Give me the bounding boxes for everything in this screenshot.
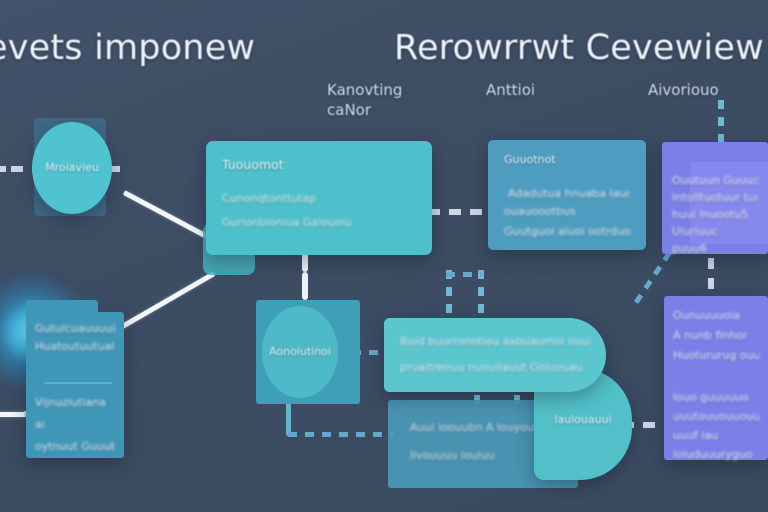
connector-bottom-center-prong-left	[446, 270, 452, 320]
center-circle-node[interactable]: Aonoiutinoi	[262, 306, 338, 398]
top-right-purple-card-line-2: Intolltuotuur tuuwui	[672, 189, 758, 206]
top-right-blue-card-line-3: ouauoootbus	[504, 202, 630, 222]
page-title-right: Rerowrrwt Cevewiew	[394, 28, 764, 68]
bottom-center-upper-card-line-1: Buid buurronotiou aabuaumoi ouuiaou	[400, 332, 590, 352]
bottom-left-card-notch	[26, 300, 98, 314]
connector-center-node-down-dash	[288, 432, 394, 437]
top-right-purple-card[interactable]: Ouutuun Guuudy Intolltuotuur tuuwui huui…	[662, 142, 768, 254]
connector-bottom-center-prong-right	[478, 270, 484, 320]
top-center-card-line-2: Cunonqtonttutap	[222, 189, 416, 209]
diagram-canvas: Mroiavieu Tuouomot Cunonqtonttutap Gurio…	[0, 0, 768, 512]
bottom-left-card-bottom-line-3: oytnuut Guuubtui	[35, 436, 115, 458]
column-header-2: Anttioi	[486, 80, 535, 100]
top-right-purple-card-line-5: puuu6	[672, 240, 758, 257]
top-center-card-line-3: Gurionbioniua Galouoiu	[222, 213, 416, 233]
bottom-right-purple-card-line-6: uuuf iau	[673, 426, 759, 445]
column-header-1: Kanovting caNor	[327, 80, 402, 120]
bottom-right-purple-card-line-7: loiuduuuryguo	[673, 445, 759, 464]
top-center-card[interactable]: Tuouomot Cunonqtonttutap Gurionbioniua G…	[206, 141, 432, 255]
bottom-right-purple-card-line-3: Huotururug ouuovoion	[673, 346, 759, 366]
column-header-3: Aivoriouo	[648, 80, 719, 100]
top-right-blue-card-line-1: Guuotnot	[504, 150, 630, 170]
bottom-left-card[interactable]: Gutuicuauuuui Huatoutuutual Vijnuziutian…	[26, 312, 124, 458]
bottom-left-card-divider	[44, 382, 112, 384]
connector-center-node-up-pipe	[302, 272, 308, 300]
top-right-blue-card-line-4: Guutguoi aiuoi ootrduoi	[504, 222, 630, 242]
bottom-left-card-bottom-line-2: ai	[35, 414, 115, 436]
bottom-right-purple-card[interactable]: Ounuuuuoia A nunb finhor Huotururug ouuo…	[664, 296, 768, 460]
bottom-right-node-label: laulouauui	[540, 410, 626, 430]
bottom-right-purple-card-line-4: Iouo guuuuuo	[673, 388, 759, 407]
top-center-card-line-1: Tuouomot	[222, 155, 416, 175]
connector-center-node-down-pipe	[286, 400, 291, 436]
top-right-purple-card-line-4: Uiuriuuc	[672, 223, 758, 240]
left-circle-node[interactable]: Mroiavieu	[32, 122, 112, 214]
top-right-blue-card-line-2: Adadutua hnuaba lauouot t	[508, 184, 630, 204]
bottom-left-card-top-line-1: Gutuicuauuuui	[35, 320, 115, 338]
connector-far-left-stub	[0, 166, 8, 172]
bottom-left-card-bottom-line-1: Vijnuziutiana	[35, 392, 115, 414]
connector-bottom-center-bridge	[446, 272, 482, 277]
top-right-purple-card-line-1: Ouutuun Guuudy	[672, 172, 758, 189]
page-title-left: evets imponew	[0, 28, 255, 68]
column-header-2-line-1: Anttioi	[486, 80, 535, 100]
column-header-3-line-1: Aivoriouo	[648, 80, 719, 100]
top-right-blue-card[interactable]: Guuotnot Adadutua hnuaba lauouot t ouauo…	[488, 140, 646, 250]
column-header-1-line-1: Kanovting	[327, 80, 402, 100]
bottom-center-upper-card[interactable]: Buid buurronotiou aabuaumoi ouuiaou prua…	[384, 318, 606, 392]
column-header-1-line-2: caNor	[327, 100, 402, 120]
bottom-right-purple-card-line-1: Ounuuuuoia	[673, 306, 759, 326]
bottom-right-purple-card-line-5: uuutouuouuouuoi	[673, 407, 759, 426]
top-right-purple-card-line-3: huui lnuootu5	[672, 206, 758, 223]
connector-topcard-to-bottom-left	[111, 271, 216, 334]
bottom-left-card-top-line-2: Huatoutuutual	[35, 338, 115, 356]
bottom-center-upper-card-line-2: pruaitreouu nuouilauut Goiuouau	[400, 358, 590, 378]
left-circle-node-label: Mroiavieu	[38, 158, 106, 178]
center-circle-node-label: Aonoiutinoi	[264, 342, 336, 362]
bottom-right-purple-card-line-2: A nunb finhor	[673, 326, 759, 346]
connector-topcard-to-right-card	[428, 209, 492, 215]
